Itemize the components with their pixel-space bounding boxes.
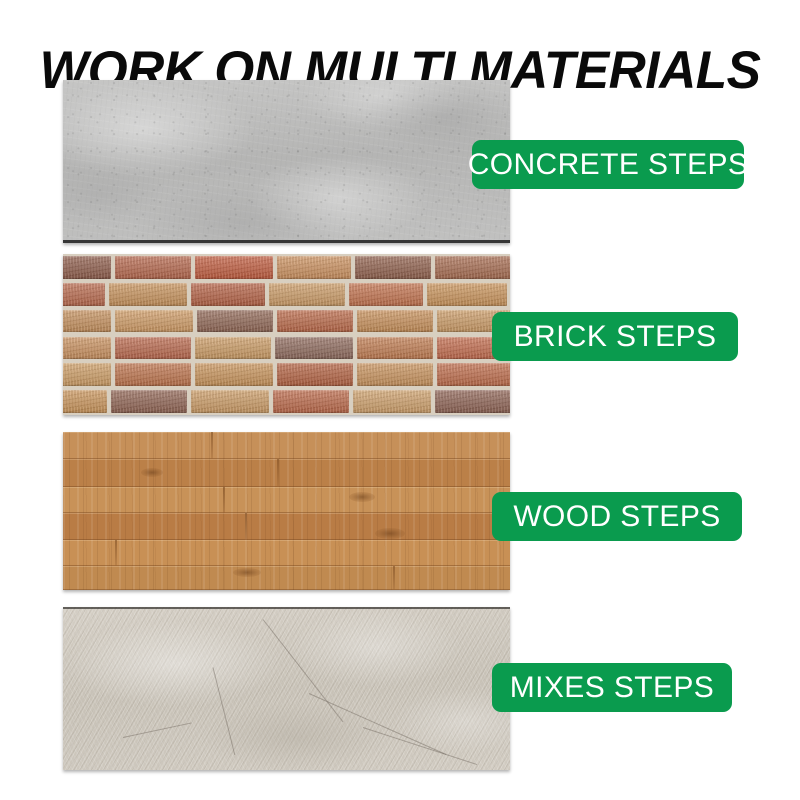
wood-plank (63, 566, 510, 590)
mixes-texture-fill (63, 607, 510, 770)
label-pill-mixes[interactable]: MIXES STEPS (492, 663, 732, 712)
label-pill-brick[interactable]: BRICK STEPS (492, 312, 738, 361)
concrete-bottom-edge (63, 240, 510, 243)
wood-plank (63, 432, 510, 459)
wood-knot (233, 568, 261, 577)
wood-plank-seam (393, 566, 395, 590)
brick-texture-swatch (63, 254, 510, 415)
brick-row (63, 308, 510, 335)
wood-plank (63, 459, 510, 487)
wood-knot (349, 492, 375, 502)
brick-row (63, 281, 510, 308)
stone-crack (213, 667, 236, 755)
wood-plank (63, 513, 510, 540)
wood-plank-seam (245, 513, 247, 540)
wood-plank-seam (277, 459, 279, 487)
wood-texture-swatch (63, 432, 510, 590)
brick-row (63, 388, 510, 415)
stone-crack (363, 727, 477, 765)
stone-crack (123, 722, 192, 738)
label-pill-concrete[interactable]: CONCRETE STEPS (472, 140, 744, 189)
wood-plank-seam (115, 540, 117, 566)
material-showcase-page: WORK ON MULTI MATERIALS CONCRETE STEPS (0, 0, 800, 800)
wood-knot (375, 528, 405, 539)
concrete-texture-fill (63, 80, 510, 243)
stone-crack (263, 619, 344, 722)
stone-crack (309, 693, 446, 755)
wood-knot (141, 468, 163, 477)
wood-plank-seam (223, 487, 225, 513)
mixes-top-edge (63, 607, 510, 609)
brick-texture-fill (63, 254, 510, 415)
wood-plank (63, 487, 510, 513)
wood-plank-seam (211, 432, 213, 459)
wood-plank (63, 540, 510, 566)
brick-row (63, 361, 510, 388)
brick-row (63, 254, 510, 281)
wood-texture-fill (63, 432, 510, 590)
concrete-texture-swatch (63, 80, 510, 243)
label-pill-wood[interactable]: WOOD STEPS (492, 492, 742, 541)
mixes-texture-swatch (63, 607, 510, 770)
brick-row (63, 335, 510, 362)
